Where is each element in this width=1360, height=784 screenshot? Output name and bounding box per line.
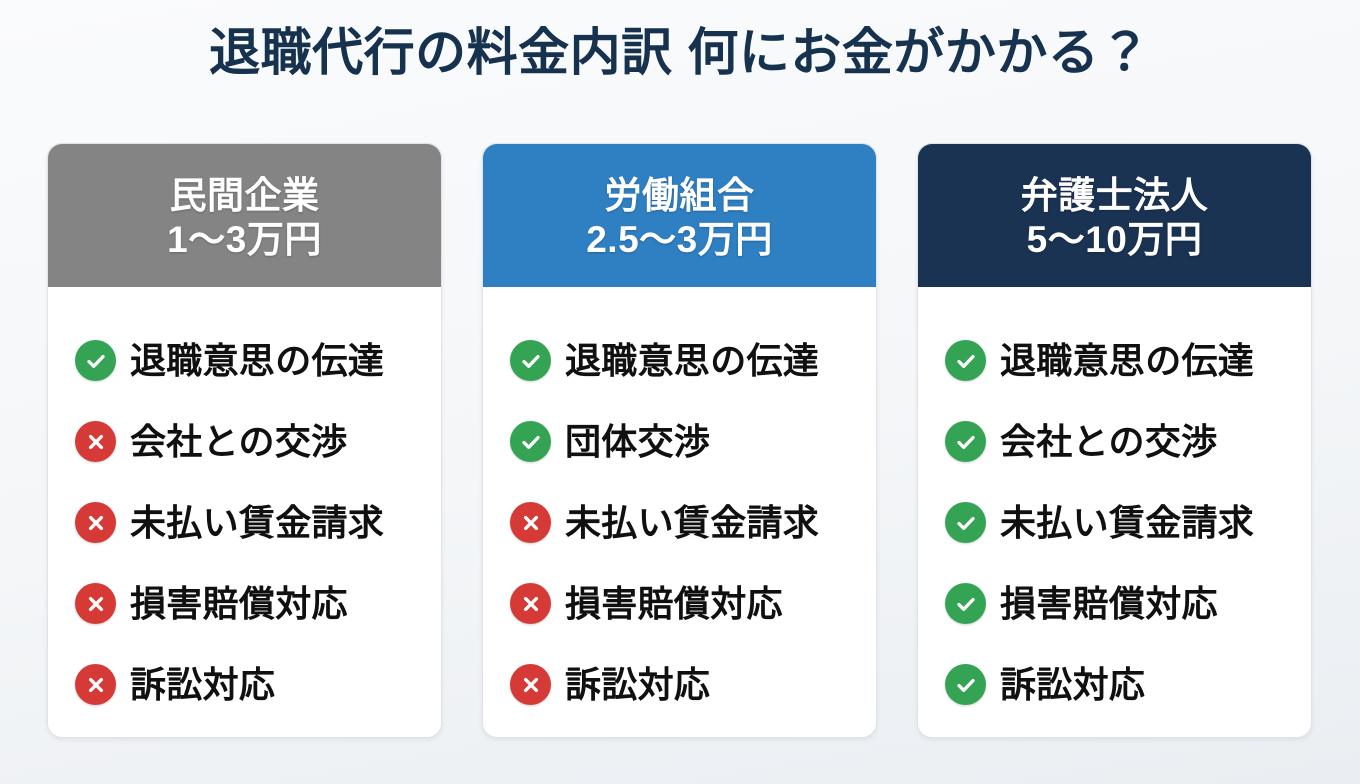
- feature-row: 損害賠償対応: [75, 563, 441, 644]
- check-circle-icon: [510, 340, 551, 381]
- feature-list: 退職意思の伝達会社との交渉未払い賃金請求損害賠償対応訴訟対応: [918, 287, 1311, 737]
- feature-label: 損害賠償対応: [130, 586, 348, 622]
- card-provider-name: 弁護士法人: [1021, 174, 1209, 218]
- check-circle-icon: [510, 421, 551, 462]
- cross-circle-icon: [510, 502, 551, 543]
- feature-row: 未払い賃金請求: [75, 482, 441, 563]
- feature-label: 訴訟対応: [130, 667, 275, 703]
- feature-list: 退職意思の伝達会社との交渉未払い賃金請求損害賠償対応訴訟対応: [48, 287, 441, 737]
- feature-row: 損害賠償対応: [945, 563, 1311, 644]
- feature-label: 損害賠償対応: [565, 586, 783, 622]
- cross-circle-icon: [510, 583, 551, 624]
- feature-row: 訴訟対応: [75, 644, 441, 725]
- feature-row: 退職意思の伝達: [510, 320, 876, 401]
- card-header-law-firm: 弁護士法人5〜10万円: [918, 144, 1311, 287]
- card-provider-name: 労働組合: [605, 174, 755, 218]
- feature-label: 訴訟対応: [1000, 667, 1145, 703]
- feature-label: 団体交渉: [565, 424, 710, 460]
- feature-label: 損害賠償対応: [1000, 586, 1218, 622]
- feature-row: 訴訟対応: [945, 644, 1311, 725]
- cross-circle-icon: [75, 421, 116, 462]
- check-circle-icon: [75, 340, 116, 381]
- feature-label: 未払い賃金請求: [130, 505, 384, 541]
- feature-label: 会社との交渉: [1000, 424, 1217, 460]
- feature-label: 退職意思の伝達: [565, 343, 819, 379]
- check-circle-icon: [945, 583, 986, 624]
- infographic-page: 退職代行の料金内訳 何にお金がかかる？ 民間企業1〜3万円退職意思の伝達会社との…: [0, 0, 1360, 784]
- cross-circle-icon: [510, 664, 551, 705]
- check-circle-icon: [945, 664, 986, 705]
- card-price-range: 1〜3万円: [167, 218, 322, 262]
- feature-label: 未払い賃金請求: [1000, 505, 1254, 541]
- feature-list: 退職意思の伝達団体交渉未払い賃金請求損害賠償対応訴訟対応: [483, 287, 876, 737]
- check-circle-icon: [945, 502, 986, 543]
- feature-label: 会社との交渉: [130, 424, 347, 460]
- feature-label: 退職意思の伝達: [130, 343, 384, 379]
- feature-row: 団体交渉: [510, 401, 876, 482]
- feature-row: 損害賠償対応: [510, 563, 876, 644]
- pricing-card-list: 民間企業1〜3万円退職意思の伝達会社との交渉未払い賃金請求損害賠償対応訴訟対応労…: [47, 143, 1313, 738]
- page-title: 退職代行の料金内訳 何にお金がかかる？: [0, 24, 1360, 83]
- feature-row: 会社との交渉: [945, 401, 1311, 482]
- feature-row: 未払い賃金請求: [510, 482, 876, 563]
- card-header-labor-union: 労働組合2.5〜3万円: [483, 144, 876, 287]
- feature-row: 未払い賃金請求: [945, 482, 1311, 563]
- feature-row: 退職意思の伝達: [75, 320, 441, 401]
- cross-circle-icon: [75, 583, 116, 624]
- feature-row: 退職意思の伝達: [945, 320, 1311, 401]
- check-circle-icon: [945, 340, 986, 381]
- pricing-card-law-firm: 弁護士法人5〜10万円退職意思の伝達会社との交渉未払い賃金請求損害賠償対応訴訟対…: [917, 143, 1312, 738]
- cross-circle-icon: [75, 664, 116, 705]
- card-provider-name: 民間企業: [170, 174, 320, 218]
- feature-label: 未払い賃金請求: [565, 505, 819, 541]
- pricing-card-private-company: 民間企業1〜3万円退職意思の伝達会社との交渉未払い賃金請求損害賠償対応訴訟対応: [47, 143, 442, 738]
- feature-label: 退職意思の伝達: [1000, 343, 1254, 379]
- pricing-card-labor-union: 労働組合2.5〜3万円退職意思の伝達団体交渉未払い賃金請求損害賠償対応訴訟対応: [482, 143, 877, 738]
- check-circle-icon: [945, 421, 986, 462]
- page-title-text: 退職代行の料金内訳 何にお金がかかる？: [0, 24, 1360, 83]
- feature-row: 訴訟対応: [510, 644, 876, 725]
- card-price-range: 5〜10万円: [1027, 218, 1203, 262]
- feature-label: 訴訟対応: [565, 667, 710, 703]
- feature-row: 会社との交渉: [75, 401, 441, 482]
- card-header-private-company: 民間企業1〜3万円: [48, 144, 441, 287]
- cross-circle-icon: [75, 502, 116, 543]
- card-price-range: 2.5〜3万円: [586, 218, 773, 262]
